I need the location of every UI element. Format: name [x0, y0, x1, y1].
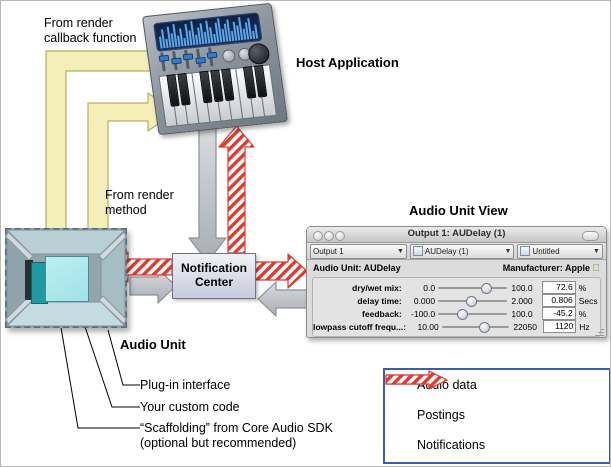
legend-item-postings: Postings — [385, 400, 609, 430]
parameter-row: dry/wet mix:0.0100.072.6% — [313, 281, 600, 294]
parameter-value-field[interactable]: -45.2 — [542, 307, 576, 320]
callout-plugin-interface: Plug-in interface — [140, 378, 230, 393]
parameter-row: delay time:0.0002.0000.806Secs — [313, 294, 600, 307]
waveform-display — [153, 12, 263, 52]
callout-scaffolding-note: (optional but recommended) — [140, 436, 296, 451]
chevron-down-icon: ▼ — [593, 248, 600, 255]
parameter-name: feedback: — [313, 309, 407, 319]
label-audio-unit-view: Audio Unit View — [409, 203, 508, 218]
preset-select[interactable]: Untitled ▼ — [517, 244, 603, 259]
callout-scaffolding: “Scaffolding” from Core Audio SDK — [140, 421, 333, 436]
postings-arrow-host-to-center — [189, 128, 226, 262]
manufacturer-label: Manufacturer: Apple — [503, 263, 590, 273]
diagram-canvas: Notification Center Output 1: AUDelay (1… — [0, 0, 611, 467]
notifications-arrow-center-to-view — [254, 254, 307, 288]
parameter-name: delay time: — [313, 296, 407, 306]
fader-5 — [208, 47, 214, 66]
parameter-value-field[interactable]: 72.6 — [542, 281, 576, 294]
parameter-row: lowpass cutoff frequ...:10.00220501120Hz — [313, 320, 600, 333]
parameter-value-field[interactable]: 0.806 — [542, 294, 576, 307]
parameter-min: -100.0 — [407, 309, 438, 319]
unit-info-row: Audio Unit: AUDelay Manufacturer: Apple … — [307, 260, 606, 276]
output-select[interactable]: Output 1 ▼ — [310, 244, 407, 259]
parameter-row: feedback:-100.0100.0-45.2% — [313, 307, 600, 320]
resize-grip[interactable] — [595, 327, 604, 336]
parameter-min: 0.000 — [407, 296, 438, 306]
toolbar-toggle-icon[interactable] — [582, 231, 599, 241]
legend-arrow-notifications — [385, 370, 449, 390]
fader-3 — [184, 50, 190, 69]
parameter-max: 2.000 — [507, 296, 541, 306]
parameter-max: 100.0 — [507, 309, 541, 319]
chevron-down-icon: ▼ — [504, 248, 511, 255]
chevron-down-icon: ▼ — [397, 248, 404, 255]
legend-label-notifications: Notifications — [417, 438, 485, 452]
keyboard — [158, 64, 274, 125]
plugin-interface-face — [45, 256, 89, 302]
window-toolbar: Output 1 ▼ AUDelay (1) ▼ Untitled ▼ — [307, 243, 606, 260]
fader-4 — [196, 49, 202, 68]
parameter-unit: % — [576, 283, 600, 293]
window-title: Output 1: AUDelay (1) — [307, 228, 606, 239]
parameter-name: dry/wet mix: — [313, 283, 407, 293]
label-host-application: Host Application — [296, 55, 399, 70]
notification-center-label: Notification Center — [173, 254, 255, 289]
parameter-unit: % — [576, 309, 600, 319]
host-application-device — [150, 9, 290, 139]
parameter-slider[interactable] — [438, 282, 507, 293]
callout-custom-code: Your custom code — [140, 400, 240, 415]
legend-item-notifications: Notifications — [385, 430, 609, 460]
apple-logo-icon:  — [593, 263, 601, 274]
notifications-arrow-center-to-host — [219, 126, 254, 253]
legend-box: Audio data Postings Notifications — [383, 368, 611, 464]
parameter-name: lowpass cutoff frequ...: — [313, 322, 411, 332]
parameter-slider[interactable] — [442, 321, 510, 332]
dial-1 — [221, 49, 236, 63]
slider-knob[interactable] — [466, 296, 477, 307]
slider-knob[interactable] — [479, 322, 490, 333]
slider-knob[interactable] — [457, 309, 468, 320]
fader-1 — [160, 52, 166, 71]
device-body — [142, 3, 288, 135]
audio-unit-view-window[interactable]: Output 1: AUDelay (1) Output 1 ▼ AUDelay… — [306, 226, 607, 338]
label-audio-unit: Audio Unit — [120, 337, 186, 352]
unit-name-label: Audio Unit: AUDelay — [313, 263, 401, 273]
postings-arrow-view-to-center — [258, 282, 307, 316]
label-from-render-method: From render method — [105, 188, 174, 218]
parameter-slider[interactable] — [438, 308, 507, 319]
parameter-unit: Secs — [576, 296, 600, 306]
parameter-slider[interactable] — [438, 295, 507, 306]
large-knob — [247, 42, 271, 65]
parameter-min: 0.0 — [407, 283, 438, 293]
parameter-list: dry/wet mix:0.0100.072.6%delay time:0.00… — [312, 277, 601, 337]
audio-unit-cube — [5, 228, 127, 333]
notification-center-box[interactable]: Notification Center — [172, 253, 256, 299]
label-from-render-callback: From render callback function — [44, 16, 136, 46]
parameter-min: 10.00 — [411, 322, 442, 332]
unit-icon — [413, 246, 423, 256]
parameter-max: 22050 — [509, 322, 542, 332]
parameter-value-field[interactable]: 1120 — [543, 320, 576, 333]
unit-select[interactable]: AUDelay (1) ▼ — [410, 244, 515, 259]
window-titlebar[interactable]: Output 1: AUDelay (1) — [307, 227, 606, 243]
parameter-max: 100.0 — [507, 283, 541, 293]
preset-icon — [520, 246, 530, 256]
slider-knob[interactable] — [481, 283, 492, 294]
fader-2 — [172, 51, 178, 70]
legend-label-postings: Postings — [417, 408, 465, 422]
